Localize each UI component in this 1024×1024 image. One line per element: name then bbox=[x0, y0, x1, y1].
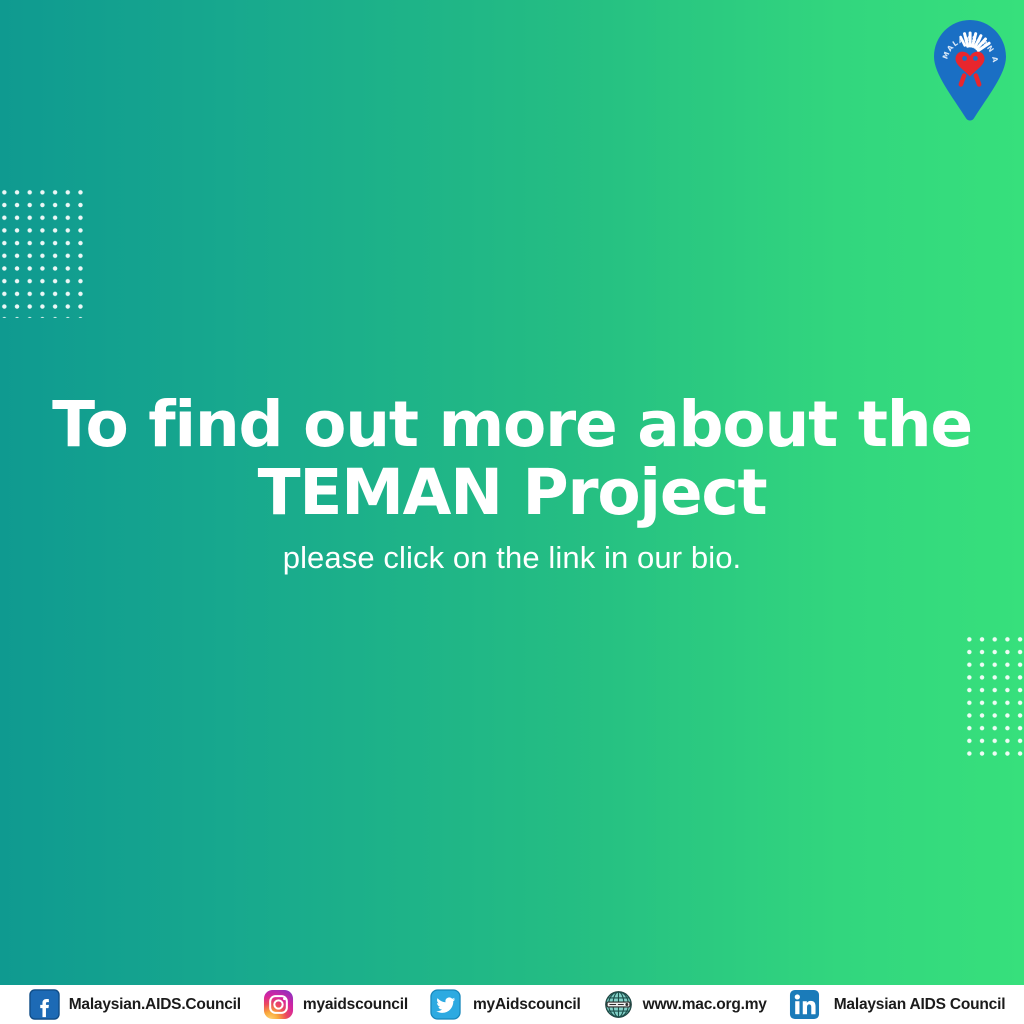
globe-icon[interactable] bbox=[603, 989, 634, 1020]
social-label-website: www.mac.org.my bbox=[643, 996, 767, 1014]
social-item-instagram[interactable]: myaidscouncil bbox=[263, 985, 408, 1024]
social-label-facebook: Malaysian.AIDS.Council bbox=[69, 996, 241, 1014]
social-item-twitter[interactable]: myAidscouncil bbox=[430, 985, 581, 1024]
social-item-website[interactable]: www.mac.org.my bbox=[603, 985, 767, 1024]
social-label-linkedin: Malaysian AIDS Council bbox=[834, 996, 1006, 1014]
social-label-instagram: myaidscouncil bbox=[303, 996, 408, 1014]
facebook-icon[interactable] bbox=[29, 989, 60, 1020]
poster-canvas: MALAYSIAN AIDS COUNCIL bbox=[0, 0, 1024, 1024]
instagram-icon[interactable] bbox=[263, 989, 294, 1020]
linkedin-icon[interactable] bbox=[789, 989, 820, 1020]
social-label-twitter: myAidscouncil bbox=[473, 996, 581, 1014]
headline-line-2: TEMAN Project bbox=[0, 460, 1024, 526]
teman-project-map-pin-logo: MALAYSIAN AIDS COUNCIL bbox=[932, 18, 1008, 124]
headline-line-1: To find out more about the bbox=[0, 392, 1024, 458]
headline-block: To find out more about the TEMAN Project… bbox=[0, 392, 1024, 576]
dot-pattern-left bbox=[0, 184, 84, 318]
subheadline: please click on the link in our bio. bbox=[0, 540, 1024, 576]
social-item-facebook[interactable]: Malaysian.AIDS.Council bbox=[29, 985, 241, 1024]
social-footer-bar: Malaysian.AIDS.Council bbox=[0, 985, 1024, 1024]
social-item-linkedin[interactable]: Malaysian AIDS Council bbox=[789, 985, 1006, 1024]
twitter-icon[interactable] bbox=[430, 989, 461, 1020]
dot-pattern-right bbox=[961, 631, 1024, 763]
